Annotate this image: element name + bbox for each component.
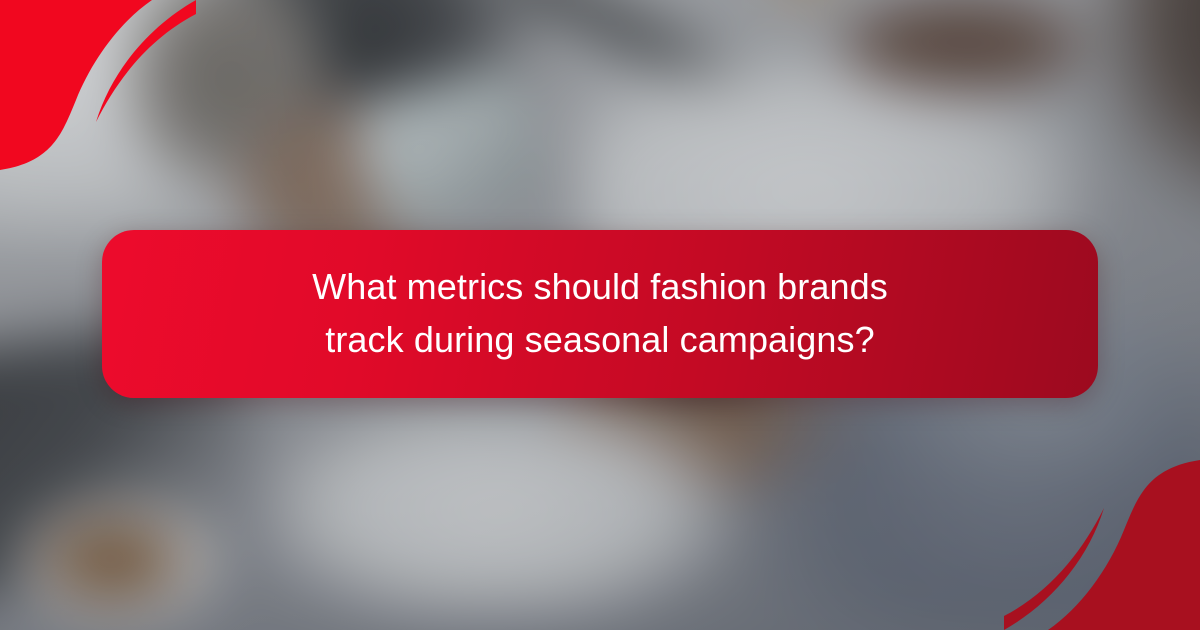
- question-badge: What metrics should fashion brands track…: [102, 230, 1098, 398]
- question-title: What metrics should fashion brands track…: [240, 261, 960, 366]
- social-share-card: What metrics should fashion brands track…: [0, 0, 1200, 630]
